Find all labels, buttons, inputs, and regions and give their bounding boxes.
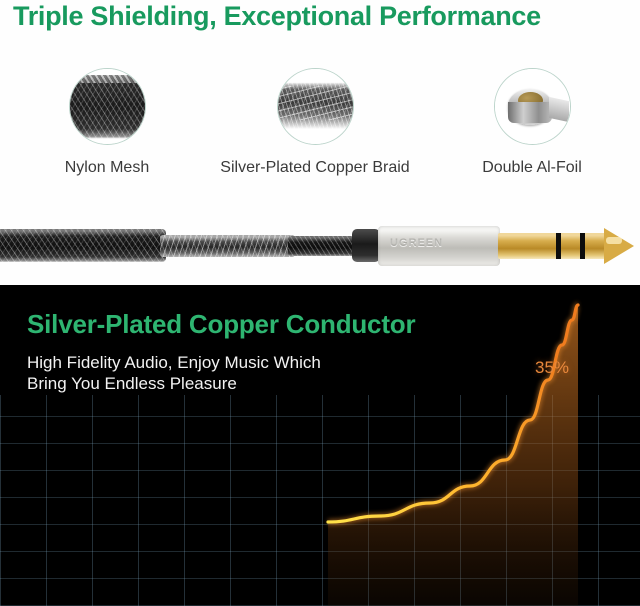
callout-al-foil: Double Al-Foil [432, 68, 632, 177]
bottom-dark-panel: Silver-Plated Copper Conductor High Fide… [0, 285, 640, 606]
chart-grid [0, 395, 640, 606]
subtitle-line-2: Bring You Endless Pleasure [27, 373, 321, 394]
callout-group: Nylon Mesh Silver-Plated Copper Braid [0, 68, 640, 188]
page-title: Triple Shielding, Exceptional Performanc… [13, 1, 633, 32]
section-heading: Silver-Plated Copper Conductor [27, 309, 415, 340]
copper-braid-swatch-icon [277, 68, 354, 145]
callout-label: Double Al-Foil [432, 159, 632, 177]
callout-label: Nylon Mesh [7, 159, 207, 177]
percent-annotation: 35% [535, 358, 569, 378]
product-photo: UGREEN [0, 205, 640, 285]
foil-roll-swatch-icon [494, 68, 571, 145]
plug-tip-highlight [606, 237, 622, 244]
nylon-braid-swatch-icon [69, 68, 146, 145]
connector-barrel: UGREEN [378, 226, 500, 266]
product-feature-graphic: Triple Shielding, Exceptional Performanc… [0, 0, 640, 606]
subtitle-line-1: High Fidelity Audio, Enjoy Music Which [27, 352, 321, 373]
plug-tip [604, 228, 634, 264]
brand-logo: UGREEN [390, 237, 443, 249]
cable-jacket-segment [288, 236, 360, 256]
section-subtitle: High Fidelity Audio, Enjoy Music Which B… [27, 352, 321, 394]
top-panel: Triple Shielding, Exceptional Performanc… [0, 0, 640, 285]
callout-nylon-mesh: Nylon Mesh [7, 68, 207, 177]
cable-copper-braid-layer [160, 235, 295, 257]
callout-copper-braid: Silver-Plated Copper Braid [215, 68, 415, 177]
gold-plug [498, 233, 606, 259]
cable-nylon-jacket [0, 229, 166, 262]
strain-relief [352, 229, 380, 262]
plug-insulator-ring [556, 233, 561, 259]
plug-insulator-ring [580, 233, 585, 259]
callout-label: Silver-Plated Copper Braid [215, 159, 415, 177]
